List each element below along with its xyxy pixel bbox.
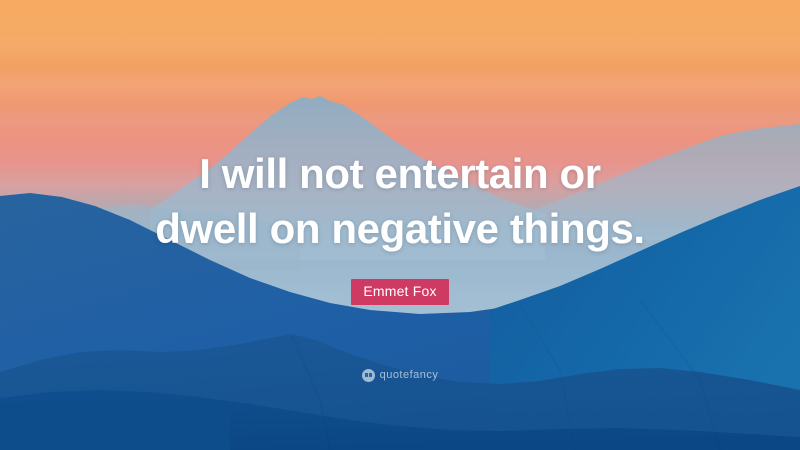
quote-line-2: dwell on negative things. <box>40 201 760 256</box>
quote-mark-circle-icon <box>362 369 375 382</box>
quote-wallpaper: I will not entertain or dwell on negativ… <box>0 0 800 450</box>
author-name-badge[interactable]: Emmet Fox <box>351 279 448 305</box>
quote-line-1: I will not entertain or <box>40 146 760 201</box>
watermark-inner[interactable]: quotefancy <box>362 369 439 382</box>
quote-text: I will not entertain or dwell on negativ… <box>0 146 800 256</box>
watermark-brand: quotefancy <box>380 369 439 382</box>
watermark: quotefancy <box>0 367 800 385</box>
author-badge-container: Emmet Fox <box>0 279 800 305</box>
